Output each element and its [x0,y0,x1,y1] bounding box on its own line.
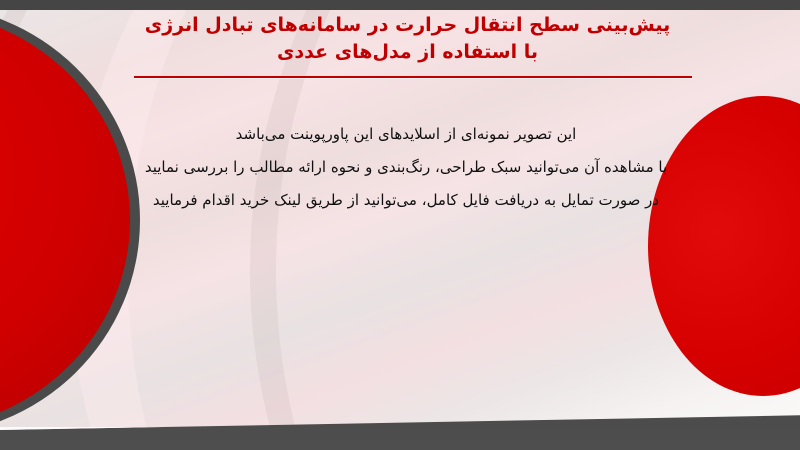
slide-title-line-2: با استفاده از مدل‌های عددی [110,39,705,66]
slide-body-text: این تصویر نمونه‌ای از اسلایدهای این پاور… [108,118,704,217]
presentation-slide: پیش‌بینی سطح انتقال حرارت در سامانه‌های … [0,0,800,450]
slide-body-line-3: در صورت تمایل به دریافت فایل کامل، می‌تو… [108,184,704,217]
slide-title-line-1: پیش‌بینی سطح انتقال حرارت در سامانه‌های … [110,12,705,39]
slide-body-line-1: این تصویر نمونه‌ای از اسلایدهای این پاور… [108,118,704,151]
slide-body-line-2: با مشاهده آن می‌توانید سبک طراحی، رنگ‌بن… [108,151,704,184]
title-underline-rule [134,76,692,78]
slide-title: پیش‌بینی سطح انتقال حرارت در سامانه‌های … [110,12,705,66]
slide-content: پیش‌بینی سطح انتقال حرارت در سامانه‌های … [0,0,800,450]
